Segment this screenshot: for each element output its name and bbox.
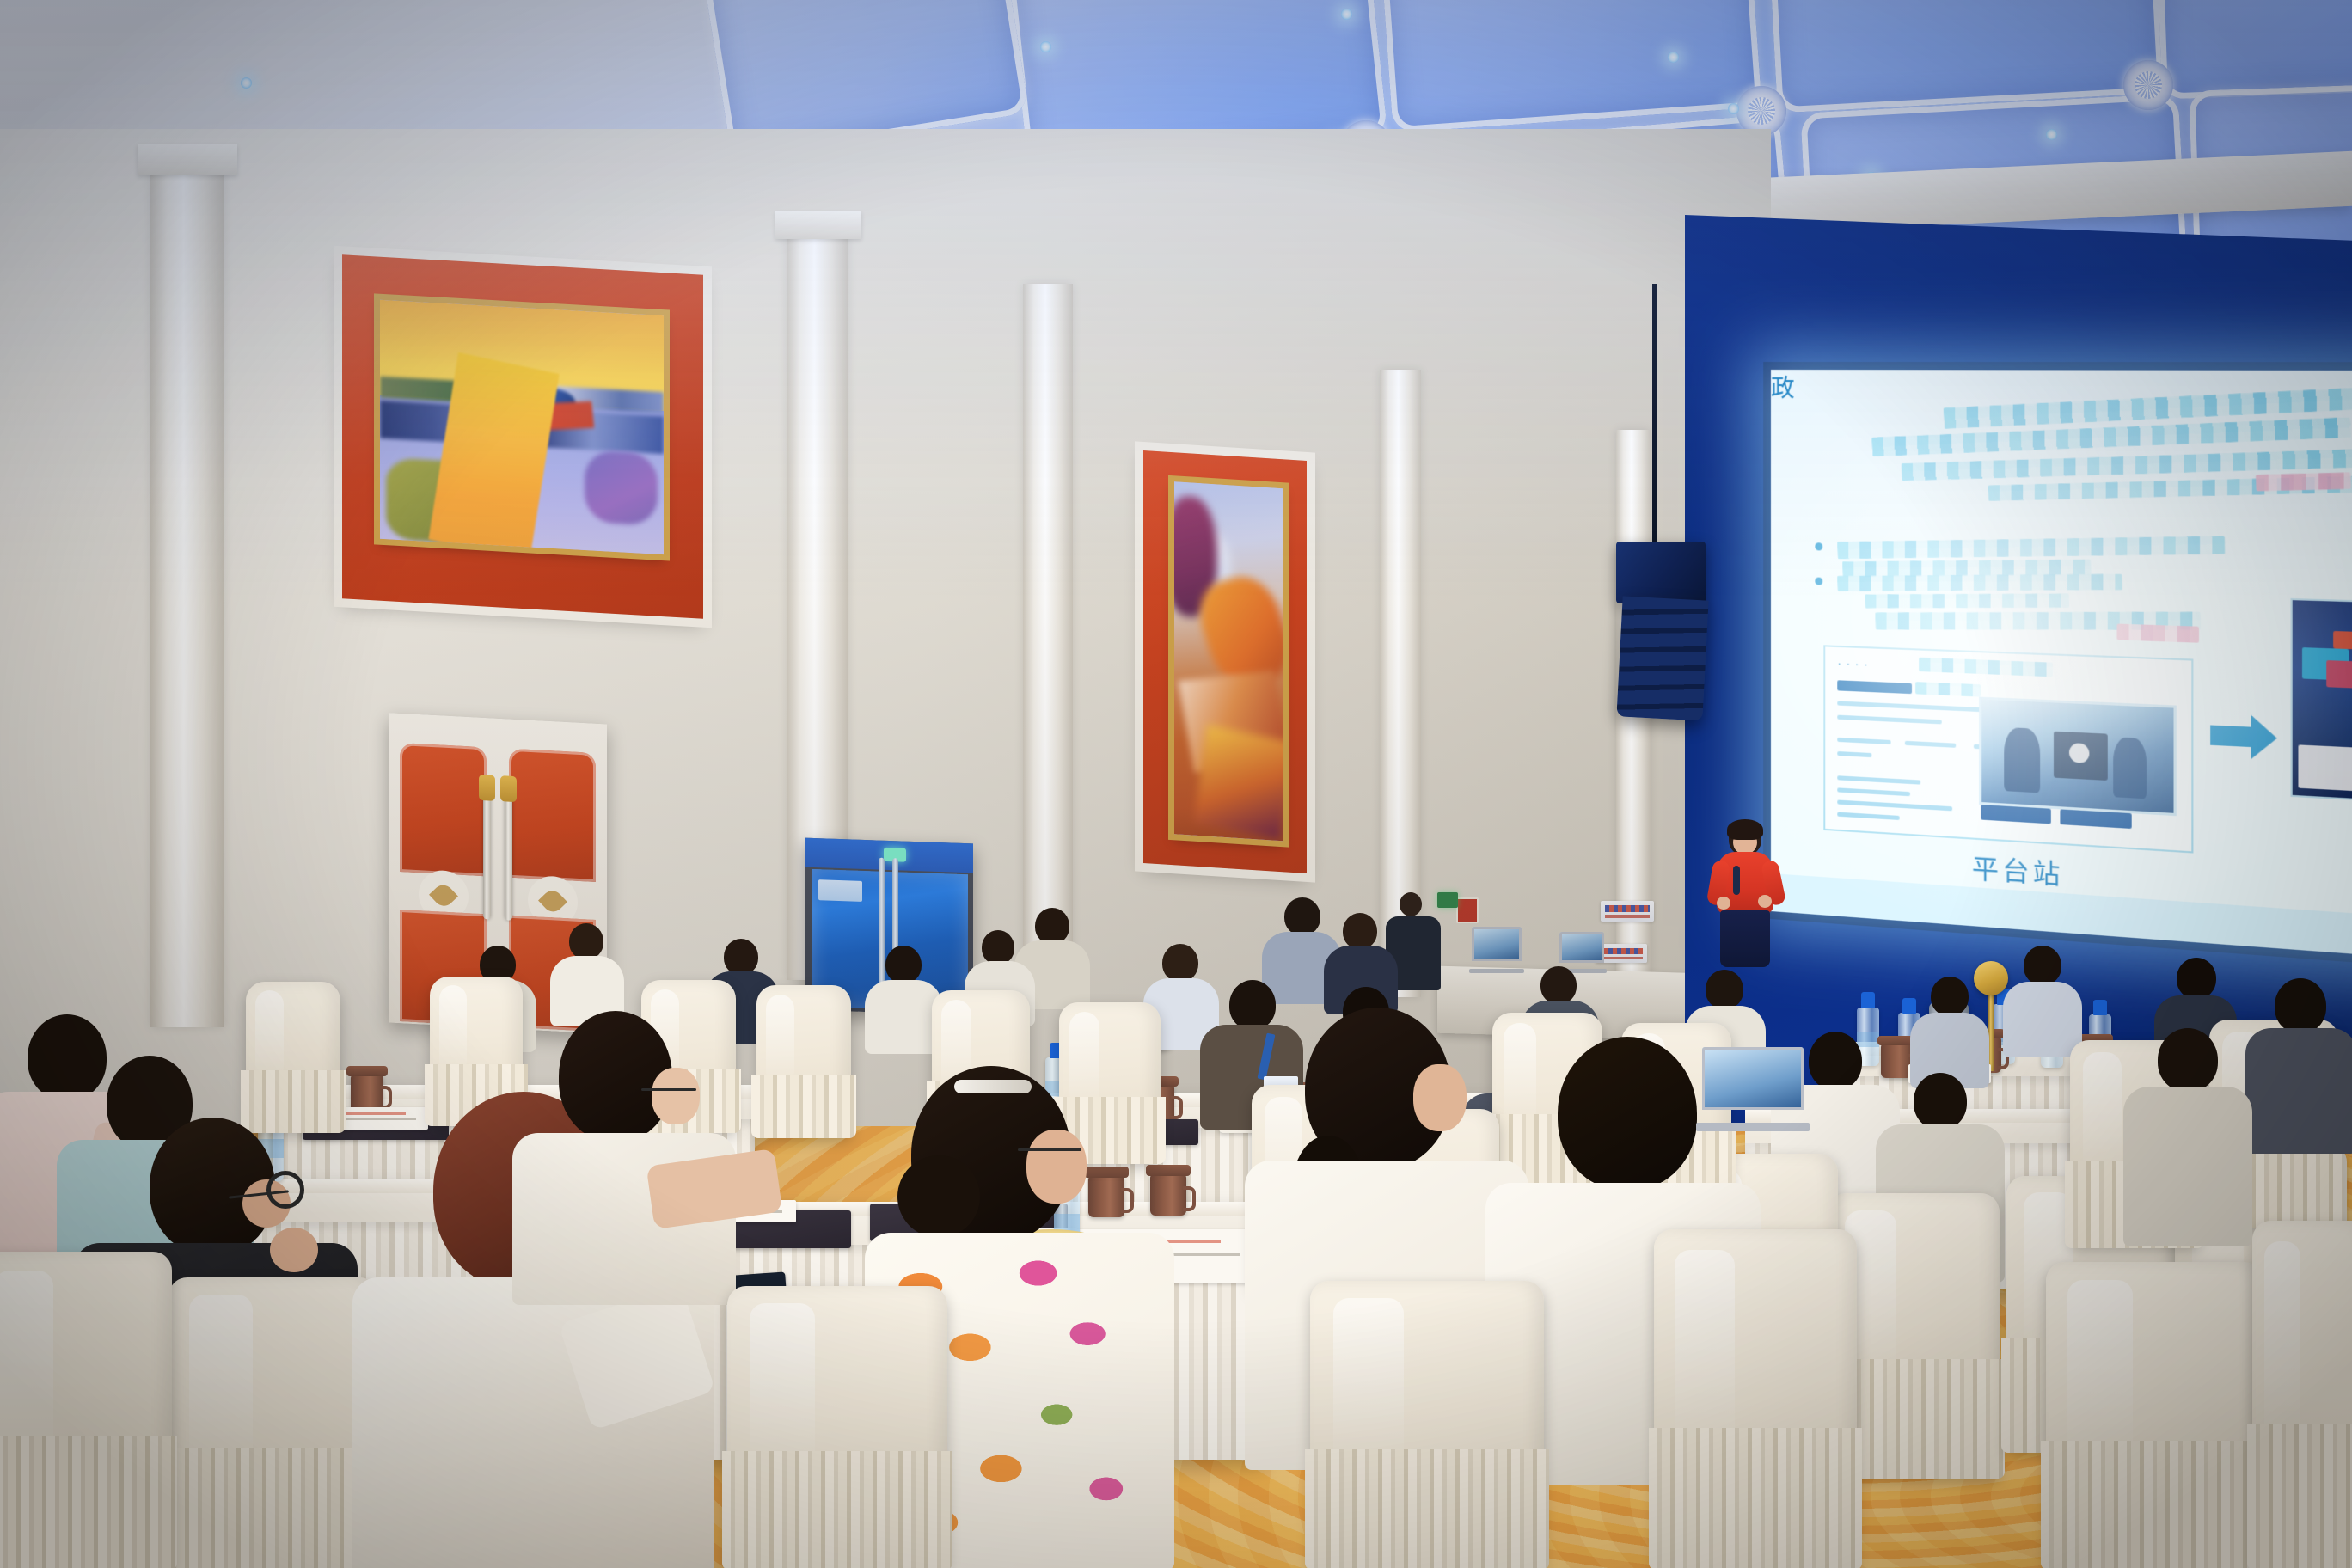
card-button[interactable] (1981, 805, 2051, 824)
line-array-speaker (1616, 542, 1706, 603)
slide-lead-character: 政 (1771, 370, 1797, 404)
slide-highlight-mosaic (2117, 624, 2200, 643)
banquet-chair[interactable] (0, 1252, 172, 1568)
conference-hall-photo: 政 · · · · (0, 0, 2352, 1568)
attendee (1910, 977, 1989, 1080)
attendee (2123, 1028, 2252, 1243)
eyeglasses (1018, 1148, 1081, 1151)
banquet-chair[interactable] (1654, 1229, 1857, 1568)
ceiling-downlight (241, 77, 252, 89)
listing-card: · · · · (1823, 645, 2193, 853)
speaker-suspension-cable (1652, 284, 1657, 559)
banquet-chair[interactable] (168, 1277, 378, 1568)
card-title-mosaic (1919, 658, 2053, 677)
slide-bullet-2-mosaic (1837, 574, 2122, 591)
flow-arrow-icon (2210, 725, 2252, 747)
banquet-chair[interactable] (246, 982, 340, 1131)
card-badge (1837, 680, 1912, 694)
line-array-speaker-modules (1616, 596, 1708, 720)
presenter (1706, 821, 1784, 967)
slide-highlight-mosaic (2256, 472, 2351, 491)
ceiling-rosette (2123, 60, 2173, 110)
card-button[interactable] (2060, 809, 2131, 829)
ceiling-downlight (1341, 9, 1352, 20)
attendee (865, 946, 942, 1047)
ceiling-downlight (1040, 41, 1051, 52)
banquet-chair[interactable] (1310, 1281, 1544, 1568)
ceiling-downlight (2046, 129, 2057, 140)
eyeglasses-lens (266, 1171, 304, 1209)
slide-bullet-marker (1815, 577, 1822, 585)
slide-bullet-2-mosaic (1865, 593, 2069, 608)
ceiling-coffer (2153, 0, 2352, 100)
attendee (512, 1011, 736, 1295)
hair-clip (954, 1080, 1032, 1093)
attendee (550, 923, 624, 1020)
attendee (2003, 946, 2082, 1049)
slide-bullet-1-mosaic (1837, 536, 2226, 559)
ceiling-downlight (1728, 103, 1739, 114)
slide-bullet-marker (1815, 542, 1822, 550)
banquet-chair[interactable] (756, 985, 851, 1136)
banquet-chair[interactable] (727, 1286, 947, 1568)
attendee (2245, 978, 2352, 1150)
slide-caption: 平台站 (1972, 847, 2064, 891)
eyeglasses (641, 1088, 696, 1091)
mobile-app-screenshot (2290, 598, 2352, 805)
hair-bun (897, 1155, 980, 1238)
video-thumbnail[interactable] (1979, 697, 2177, 817)
projection-screen: 政 · · · · (1771, 370, 2352, 959)
banquet-chair[interactable] (2252, 1221, 2352, 1568)
ceiling-downlight (1668, 52, 1679, 63)
banquet-chair[interactable] (2046, 1262, 2263, 1568)
handheld-microphone (1733, 866, 1740, 895)
card-badge-mosaic (1915, 682, 1981, 697)
presenter-skirt (1720, 910, 1770, 967)
attendee-laptop[interactable] (1702, 1047, 1804, 1131)
